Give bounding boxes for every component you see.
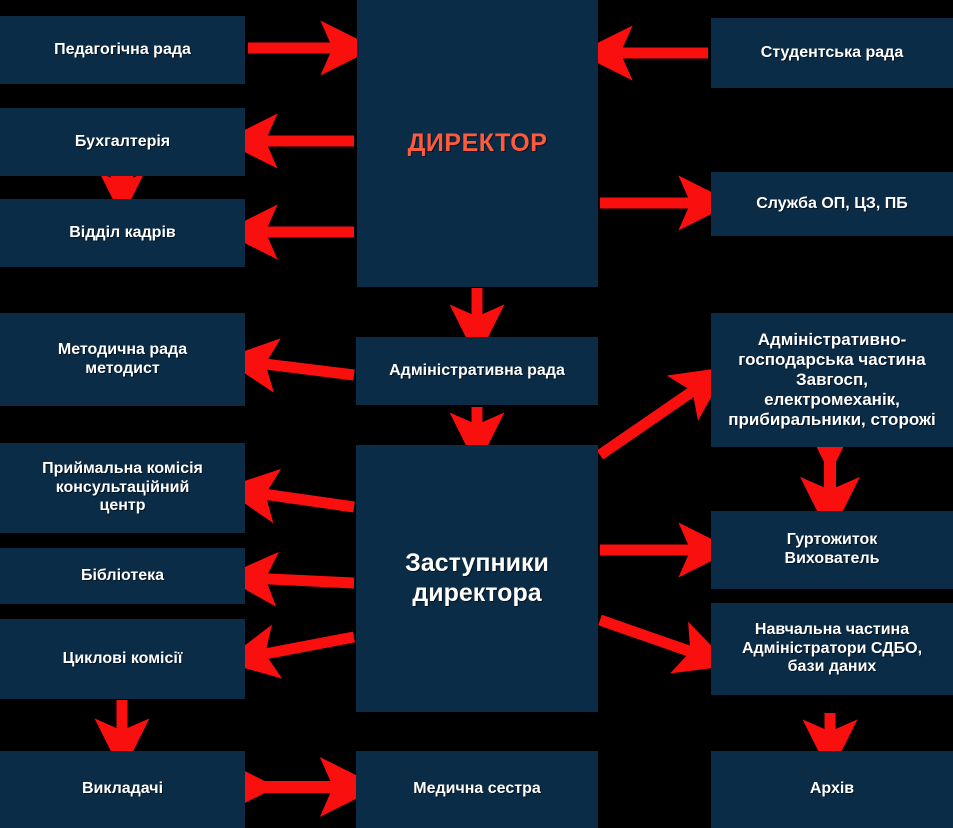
node-archive[interactable]: Архів [711,751,953,828]
node-label: Адміністративно- господарська частина За… [728,330,936,429]
node-deputy-directors[interactable]: Заступники директора [356,445,598,712]
node-label: Медична сестра [413,780,541,799]
node-label: Приймальна комісія консультаційний центр [42,460,203,516]
node-label: Циклові комісії [63,650,183,669]
node-dormitory[interactable]: Гуртожиток Вихователь [711,511,953,589]
node-admin-economic-part[interactable]: Адміністративно- господарська частина За… [711,313,953,447]
arrow-deputy-to-education [600,620,706,657]
node-pedagogical-council[interactable]: Педагогічна рада [0,16,245,84]
node-label: Служба ОП, ЦЗ, ПБ [756,195,908,214]
node-label: ДИРЕКТОР [408,129,548,158]
node-label: Відділ кадрів [69,224,175,243]
node-administrative-council[interactable]: Адміністративна рада [356,337,598,405]
node-label: Бібліотека [81,567,164,586]
node-director[interactable]: ДИРЕКТОР [357,0,598,287]
arrow-deputy-to-admissions [249,492,354,507]
node-label: Заступники директора [405,549,549,608]
node-education-part[interactable]: Навчальна частина Адміністратори СДБО, б… [711,603,953,695]
node-safety-service[interactable]: Служба ОП, ЦЗ, ПБ [711,172,953,236]
org-chart-diagram: Педагогічна рада Бухгалтерія Відділ кадр… [0,0,953,828]
node-label: Навчальна частина Адміністратори СДБО, б… [742,621,922,677]
node-student-council[interactable]: Студентська рада [711,18,953,88]
node-methodical-council[interactable]: Методична рада методист [0,313,245,406]
arrow-admin-council-to-methodical [249,362,354,375]
node-accounting[interactable]: Бухгалтерія [0,108,245,176]
arrow-deputy-to-cyclic [249,637,354,657]
arrow-deputy-to-library [249,578,354,583]
node-label: Педагогічна рада [54,41,191,60]
node-nurse[interactable]: Медична сестра [356,751,598,828]
node-library[interactable]: Бібліотека [0,548,245,604]
node-label: Студентська рада [761,44,903,63]
node-teachers[interactable]: Викладачі [0,751,245,828]
node-label: Викладачі [82,780,163,799]
node-label: Бухгалтерія [75,133,170,152]
node-cyclic-commissions[interactable]: Циклові комісії [0,619,245,699]
node-label: Адміністративна рада [389,362,565,381]
node-label: Архів [810,780,854,799]
node-label: Гуртожиток Вихователь [785,531,880,568]
node-admissions-committee[interactable]: Приймальна комісія консультаційний центр [0,443,245,533]
node-hr-department[interactable]: Відділ кадрів [0,199,245,267]
node-label: Методична рада методист [58,341,187,378]
arrow-deputy-to-admin-economic [600,382,706,455]
